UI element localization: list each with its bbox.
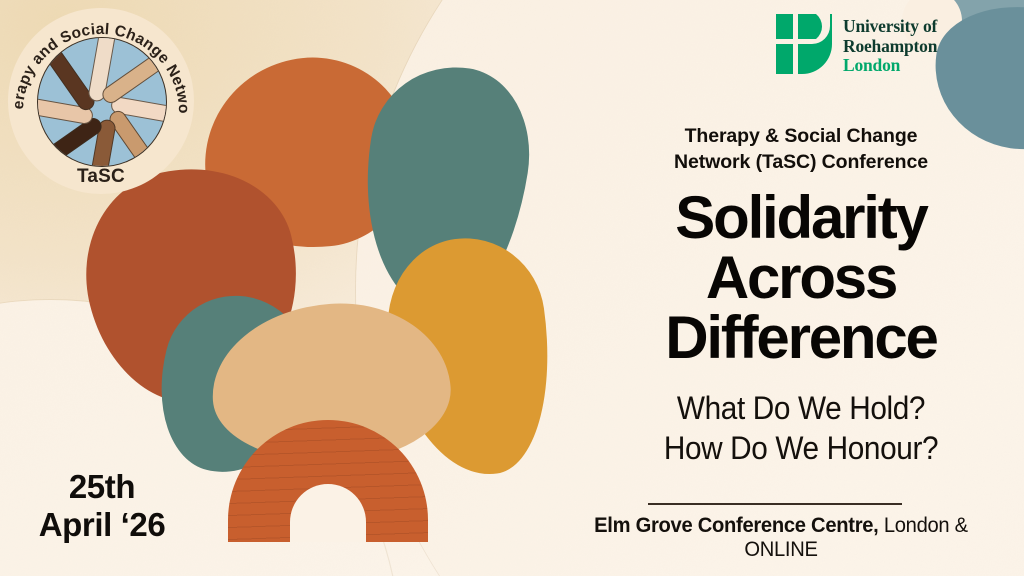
conference-poster: Therapy and Social Change Network TaSC U… <box>0 0 1024 576</box>
conference-name: Therapy & Social Change Network (TaSC) C… <box>592 123 1010 175</box>
svg-text:Therapy and Social Change Netw: Therapy and Social Change Network <box>8 8 192 114</box>
event-date-day: 25th <box>22 468 182 506</box>
venue-name: Elm Grove Conference Centre, <box>594 514 878 537</box>
tasc-curved-label: Therapy and Social Change Network <box>8 8 192 114</box>
text-panel: Therapy & Social Change Network (TaSC) C… <box>592 0 1010 576</box>
divider <box>648 503 902 505</box>
subtitle-line-2: How Do We Honour? <box>607 428 996 468</box>
title-line-3: Difference <box>592 308 1010 368</box>
tasc-logo: Therapy and Social Change Network TaSC <box>8 8 194 194</box>
tasc-abbreviation: TaSC <box>8 166 194 188</box>
title-line-1: Solidarity <box>592 188 1010 248</box>
orange-arch-bottom <box>228 420 428 542</box>
subtitle-line-1: What Do We Hold? <box>607 388 996 428</box>
conference-name-line-2: Network (TaSC) Conference <box>592 149 1010 175</box>
venue-line: Elm Grove Conference Centre, London & ON… <box>555 514 1006 562</box>
page-title: Solidarity Across Difference <box>592 188 1010 368</box>
title-line-2: Across <box>592 248 1010 308</box>
arch-texture-lines <box>228 420 428 542</box>
event-date-month-year: April ‘26 <box>22 506 182 544</box>
subtitle-questions: What Do We Hold? How Do We Honour? <box>607 388 996 469</box>
conference-name-line-1: Therapy & Social Change <box>592 123 1010 149</box>
event-date: 25th April ‘26 <box>22 468 182 543</box>
